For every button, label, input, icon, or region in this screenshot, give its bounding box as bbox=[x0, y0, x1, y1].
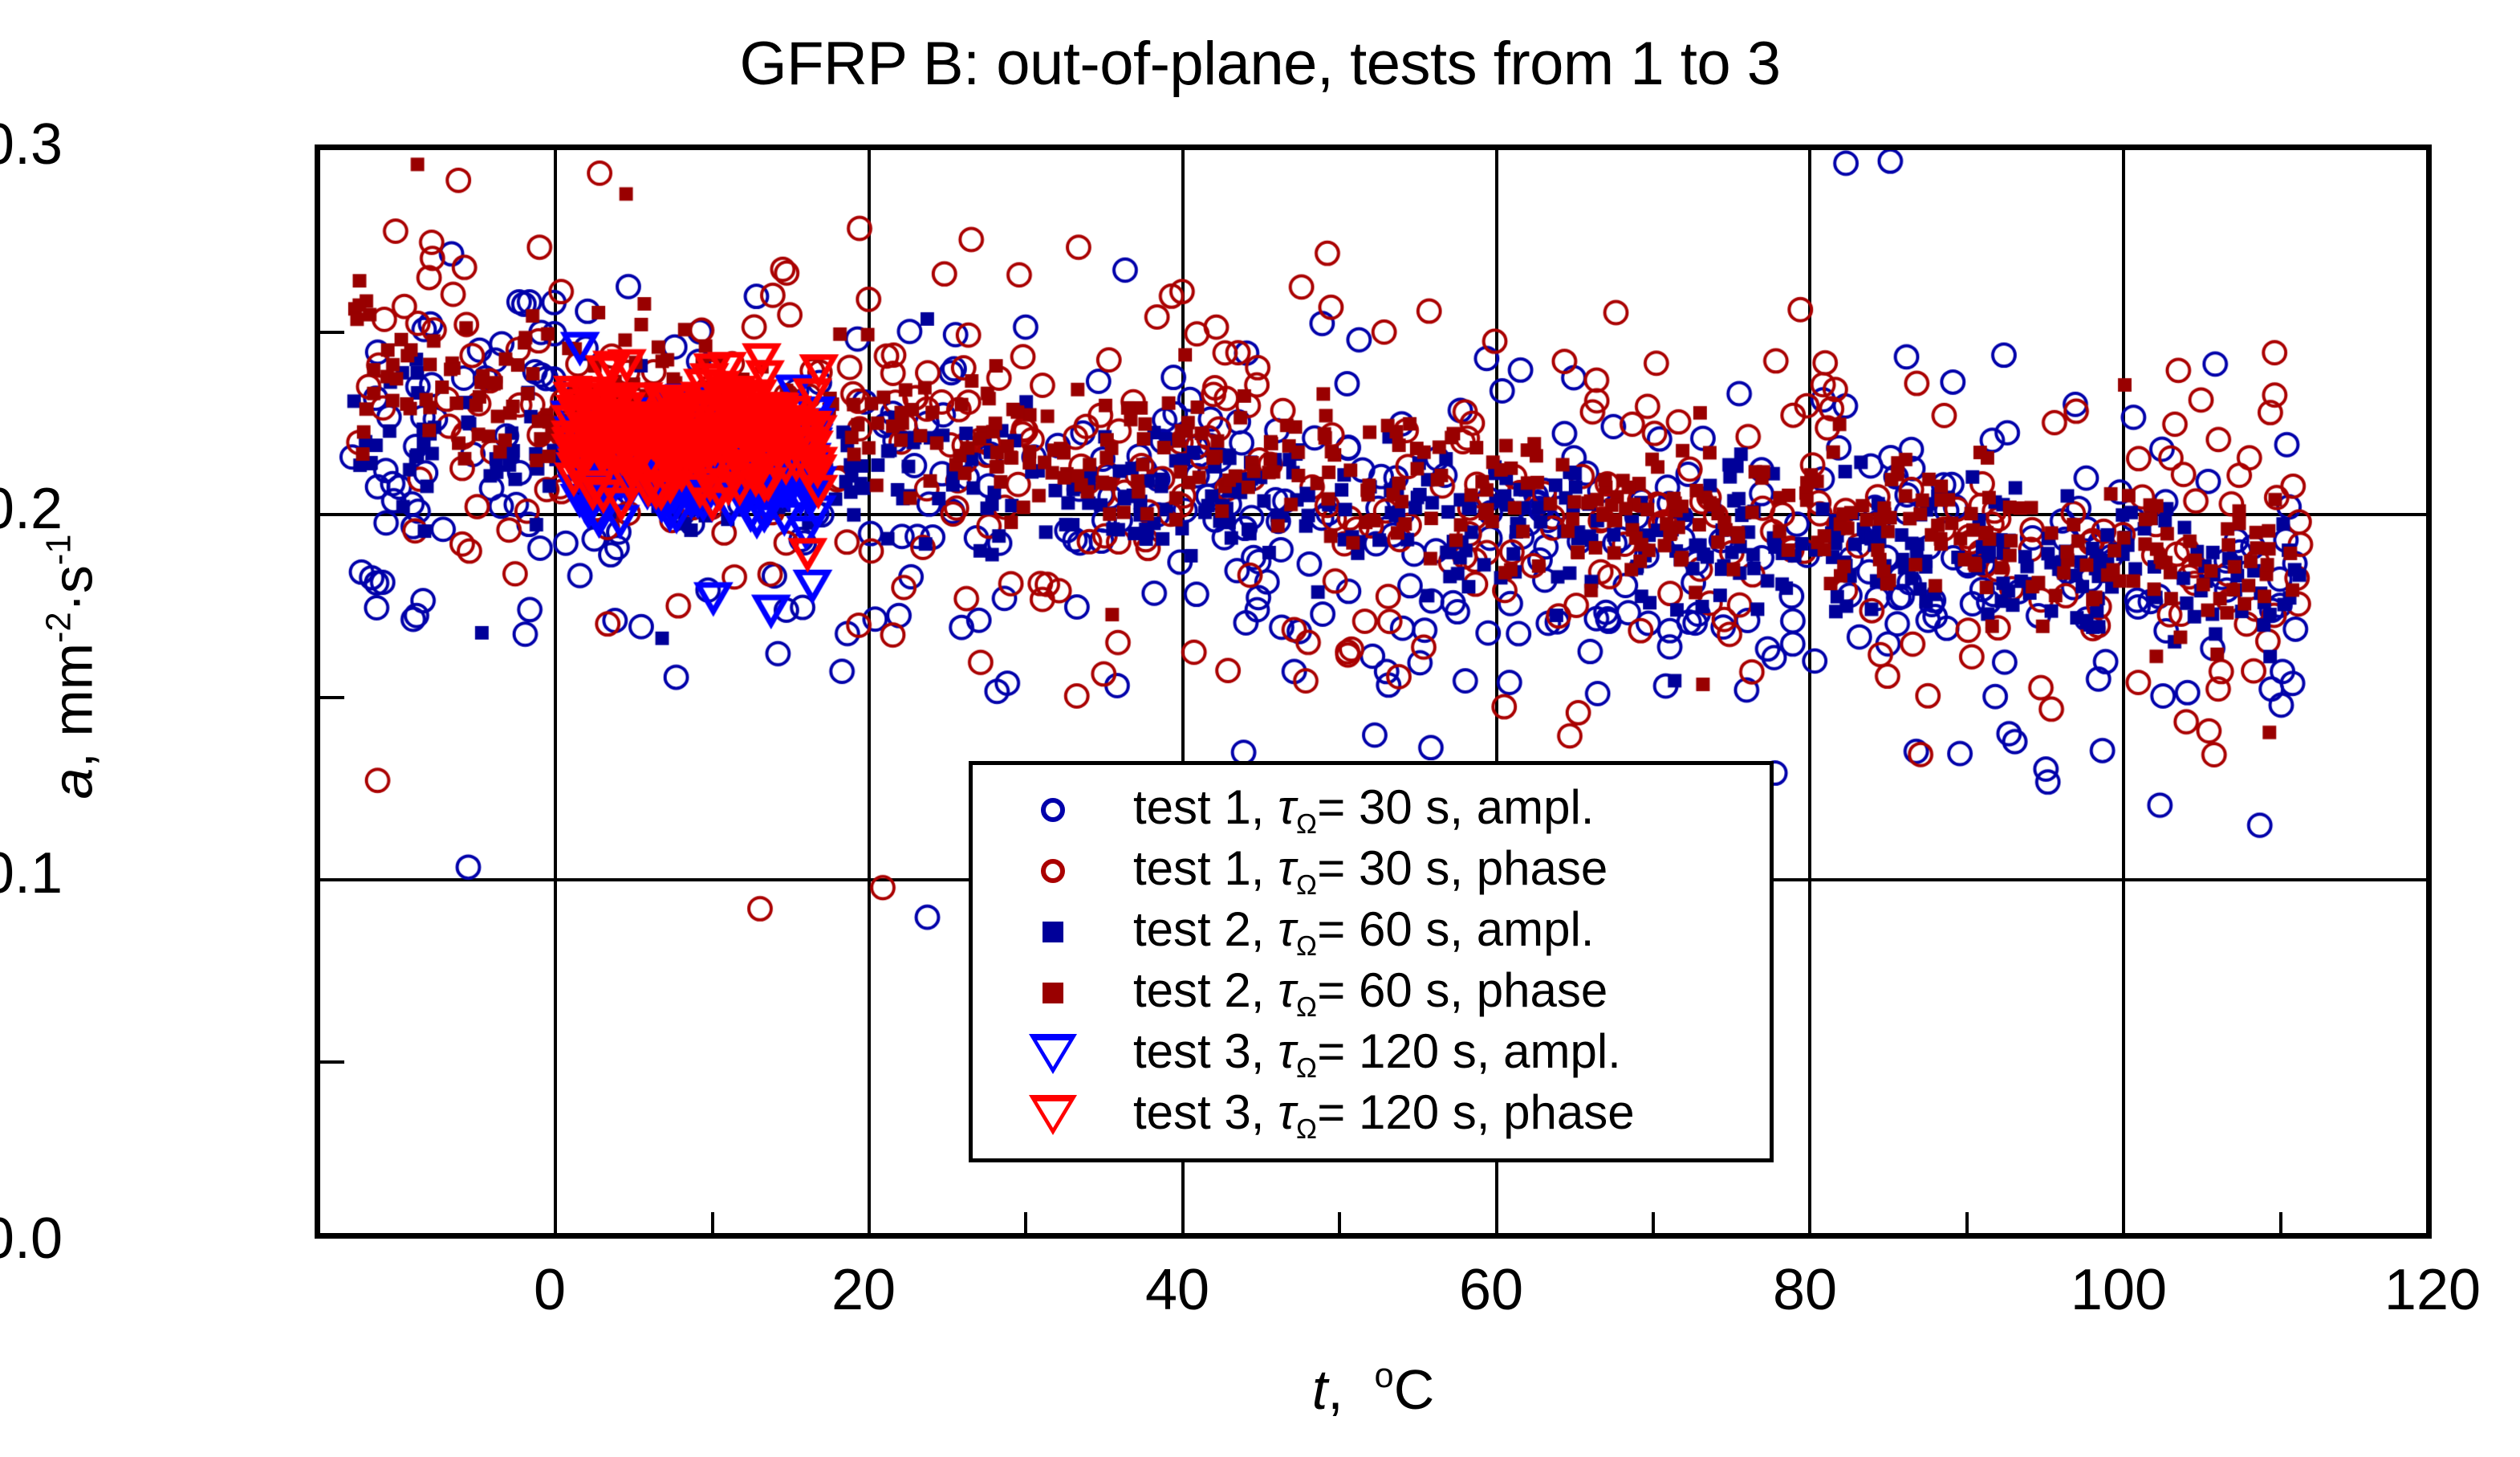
legend-item-test2-ampl[interactable]: test 2, τΩ= 60 s, ampl. bbox=[973, 901, 1770, 963]
legend-swatch-test3-ampl bbox=[973, 1034, 1133, 1074]
open-circle-icon bbox=[1041, 798, 1065, 822]
legend-swatch-test2-ampl bbox=[973, 922, 1133, 942]
legend-item-test3-phase[interactable]: test 3, τΩ= 120 s, phase bbox=[973, 1085, 1770, 1146]
open-circle-icon bbox=[1041, 859, 1065, 883]
chart-figure: GFRP B: out-of-plane, tests from 1 to 3 … bbox=[0, 0, 2520, 1457]
x-tick-label-120: 120 bbox=[2384, 1257, 2481, 1323]
y-tick-label-3: 0.0 bbox=[0, 1206, 63, 1272]
open-triangle-down-icon bbox=[1029, 1034, 1077, 1074]
legend-item-test2-phase[interactable]: test 2, τΩ= 60 s, phase bbox=[973, 963, 1770, 1024]
legend-label-test2-ampl: test 2, τΩ= 60 s, ampl. bbox=[1133, 901, 1594, 963]
filled-square-icon bbox=[1043, 922, 1063, 942]
filled-square-icon bbox=[1043, 983, 1063, 1003]
legend-item-test3-ampl[interactable]: test 3, τΩ= 120 s, ampl. bbox=[973, 1024, 1770, 1085]
y-axis-title-unit-mid: ·s bbox=[41, 565, 104, 612]
open-triangle-down-icon bbox=[1029, 1095, 1077, 1135]
legend-label-test2-phase: test 2, τΩ= 60 s, phase bbox=[1133, 963, 1608, 1024]
x-axis-title-unit: C bbox=[1394, 1358, 1435, 1421]
x-axis-title-variable: t bbox=[1312, 1358, 1327, 1421]
degree-sign: o bbox=[1375, 1357, 1394, 1395]
x-tick-label-60: 60 bbox=[1459, 1257, 1523, 1323]
legend-label-test1-ampl: test 1, τΩ= 30 s, ampl. bbox=[1133, 779, 1594, 840]
x-axis-title-comma: , bbox=[1327, 1358, 1343, 1421]
legend-item-test1-phase[interactable]: test 1, τΩ= 30 s, phase bbox=[973, 840, 1770, 901]
legend-swatch-test1-phase bbox=[973, 859, 1133, 883]
legend-label-test3-ampl: test 3, τΩ= 120 s, ampl. bbox=[1133, 1024, 1621, 1085]
legend-label-test3-phase: test 3, τΩ= 120 s, phase bbox=[1133, 1085, 1635, 1146]
chart-title: GFRP B: out-of-plane, tests from 1 to 3 bbox=[0, 29, 2520, 99]
y-axis-title: a, mm-2·s-1 bbox=[40, 144, 105, 1188]
legend-swatch-test2-phase bbox=[973, 983, 1133, 1003]
x-tick-label-40: 40 bbox=[1145, 1257, 1209, 1323]
legend-item-test1-ampl[interactable]: test 1, τΩ= 30 s, ampl. bbox=[973, 779, 1770, 840]
y-axis-exponent-1: -2 bbox=[40, 612, 79, 643]
x-tick-label-80: 80 bbox=[1773, 1257, 1837, 1323]
x-tick-label-0: 0 bbox=[534, 1257, 566, 1323]
y-axis-title-variable: a bbox=[41, 768, 104, 800]
x-axis-title: t, oC bbox=[315, 1357, 2432, 1422]
legend-swatch-test3-phase bbox=[973, 1095, 1133, 1135]
legend-label-test1-phase: test 1, τΩ= 30 s, phase bbox=[1133, 840, 1608, 901]
y-axis-title-unit-head: , mm bbox=[41, 643, 104, 768]
x-tick-label-100: 100 bbox=[2071, 1257, 2167, 1323]
legend-swatch-test1-ampl bbox=[973, 798, 1133, 822]
legend: test 1, τΩ= 30 s, ampl. test 1, τΩ= 30 s… bbox=[969, 761, 1774, 1162]
y-axis-exponent-2: -1 bbox=[40, 534, 79, 565]
x-tick-label-20: 20 bbox=[831, 1257, 896, 1323]
